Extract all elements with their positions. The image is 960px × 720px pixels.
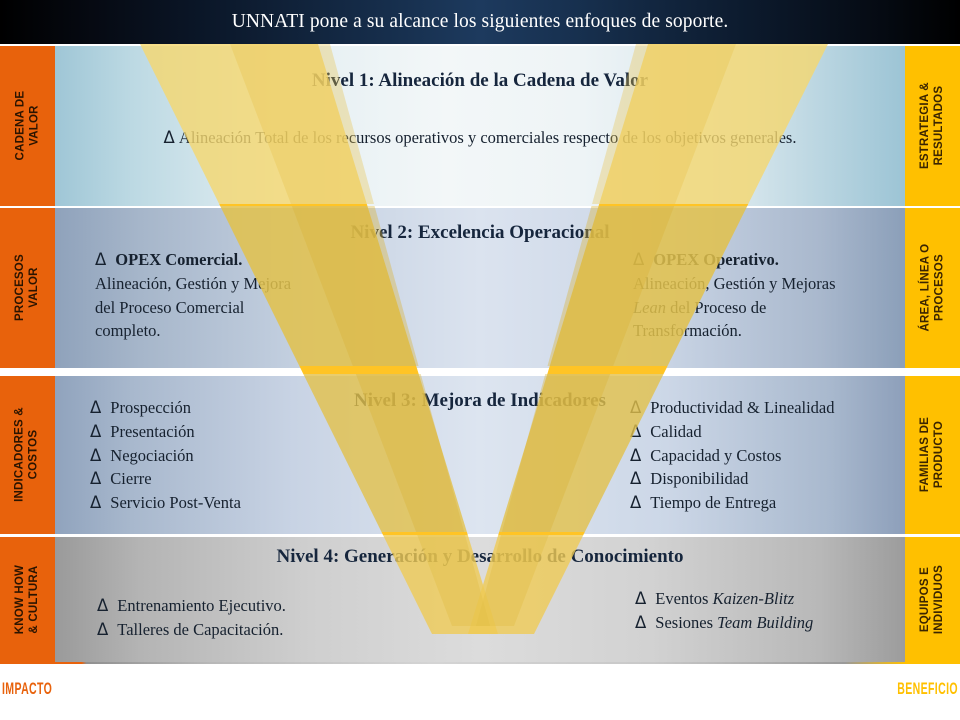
triangle-bullet-icon: Δ (97, 594, 108, 618)
list-item: Δ Servicio Post-Venta (90, 491, 241, 515)
level-1-paragraph-text: Alineación Total de los recursos operati… (179, 128, 797, 147)
sidebar-item-familias-de-producto[interactable]: FAMILIAS DEPRODUCTO (905, 376, 960, 534)
level-4-left-list: Δ Entrenamiento Ejecutivo. Δ Talleres de… (97, 594, 286, 642)
triangle-bullet-icon: Δ (630, 467, 641, 491)
left-tab-label-4: KNOW HOW& CULTURA (14, 565, 41, 634)
triangle-bullet-icon: Δ (90, 467, 101, 491)
level-2-left-line-0: Alineación, Gestión y Mejora (95, 272, 425, 296)
level-2-left-line-1: del Proceso Comercial (95, 296, 425, 320)
triangle-bullet-icon: Δ (630, 491, 641, 515)
level-4-right-item-1: Sesiones Team Building (655, 611, 813, 635)
level-3-right-item-2: Capacidad y Costos (650, 444, 781, 468)
list-item: Δ Prospección (90, 396, 241, 420)
level-3-left-item-4: Servicio Post-Venta (110, 491, 241, 515)
level-3-left-item-2: Negociación (110, 444, 193, 468)
level-1-body: Nivel 1: Alineación de la Cadena de Valo… (55, 46, 905, 206)
sidebar-item-cadena-de-valor[interactable]: CADENA DEVALOR (0, 46, 55, 206)
level-3-right-item-3: Disponibilidad (650, 467, 748, 491)
level-3-left-item-1: Presentación (110, 420, 194, 444)
right-tab-label-4: EQUIPOS EINDIVIDUOS (919, 565, 946, 634)
impacto-label: IMPACTO (2, 679, 52, 699)
triangle-bullet-icon: Δ (95, 248, 106, 272)
level-2-left-line-2: completo. (95, 319, 425, 343)
sidebar-item-indicadores-costos[interactable]: INDICADORES &COSTOS (0, 376, 55, 534)
triangle-bullet-icon: Δ (635, 611, 646, 635)
level-4-right-list: Δ Eventos Kaizen-Blitz Δ Sesiones Team B… (635, 587, 813, 635)
list-item: Δ Calidad (630, 420, 835, 444)
level-3-band: INDICADORES &COSTOS FAMILIAS DEPRODUCTO … (0, 376, 960, 534)
beneficio-label: BENEFICIO (897, 679, 958, 699)
level-3-left-item-0: Prospección (110, 396, 191, 420)
list-item: Δ Negociación (90, 444, 241, 468)
level-2-left-heading: Δ OPEX Comercial. (95, 248, 425, 272)
triangle-bullet-icon: Δ (90, 491, 101, 515)
left-tab-label-3: INDICADORES &COSTOS (14, 408, 41, 503)
list-item: Δ Entrenamiento Ejecutivo. (97, 594, 286, 618)
level-3-left-list: Δ Prospección Δ Presentación Δ Negociaci… (90, 396, 241, 515)
level-1-band: CADENA DEVALOR ESTRATEGIA &RESULTADOS Ni… (0, 46, 960, 206)
level-1-paragraph: Δ Alineación Total de los recursos opera… (113, 126, 847, 149)
level-2-band: PROCESOSVALOR ÁREA, LÍNEA OPROCESOS Nive… (0, 208, 960, 368)
level-2-right-line-2: Transformación. (633, 319, 905, 343)
level-2-left-column: Δ OPEX Comercial. Alineación, Gestión y … (95, 248, 425, 343)
level-2-left-heading-text: OPEX Comercial. (115, 248, 242, 272)
sidebar-item-know-how-cultura[interactable]: KNOW HOW& CULTURA (0, 537, 55, 662)
level-2-right-heading: Δ OPEX Operativo. (633, 248, 905, 272)
level-2-right-line-0: Alineación, Gestión y Mejoras (633, 272, 905, 296)
level-1-title: Nivel 1: Alineación de la Cadena de Valo… (55, 70, 905, 92)
triangle-bullet-icon: Δ (630, 396, 641, 420)
list-item: Δ Disponibilidad (630, 467, 835, 491)
level-4-title: Nivel 4: Generación y Desarrollo de Cono… (55, 546, 905, 568)
sidebar-item-area-linea-procesos[interactable]: ÁREA, LÍNEA OPROCESOS (905, 208, 960, 368)
level-4-band: KNOW HOW& CULTURA EQUIPOS EINDIVIDUOS Ni… (0, 537, 960, 662)
triangle-bullet-icon: Δ (97, 618, 108, 642)
level-3-right-list: Δ Productividad & Linealidad Δ Calidad Δ… (630, 396, 835, 515)
left-tab-label-2: PROCESOSVALOR (14, 255, 41, 322)
level-2-right-column: Δ OPEX Operativo. Alineación, Gestión y … (633, 248, 905, 343)
triangle-bullet-icon: Δ (630, 444, 641, 468)
triangle-bullet-icon: Δ (90, 444, 101, 468)
slide-root: UNNATI pone a su alcance los siguientes … (0, 0, 960, 720)
list-item: Δ Tiempo de Entrega (630, 491, 835, 515)
level-3-right-item-0: Productividad & Linealidad (650, 396, 834, 420)
triangle-bullet-icon: Δ (90, 420, 101, 444)
page-title: UNNATI pone a su alcance los siguientes … (232, 11, 729, 33)
level-4-right-item-0: Eventos Kaizen-Blitz (655, 587, 794, 611)
level-4-body: Nivel 4: Generación y Desarrollo de Cono… (55, 537, 905, 662)
sidebar-item-equipos-individuos[interactable]: EQUIPOS EINDIVIDUOS (905, 537, 960, 662)
sidebar-item-estrategia-resultados[interactable]: ESTRATEGIA &RESULTADOS (905, 46, 960, 206)
level-4-left-item-1: Talleres de Capacitación. (117, 618, 283, 642)
level-2-body: Nivel 2: Excelencia Operacional Δ OPEX C… (55, 208, 905, 368)
list-item: Δ Cierre (90, 467, 241, 491)
list-item: Δ Talleres de Capacitación. (97, 618, 286, 642)
level-4-left-item-0: Entrenamiento Ejecutivo. (117, 594, 286, 618)
list-item: Δ Presentación (90, 420, 241, 444)
right-tab-label-1: ESTRATEGIA &RESULTADOS (919, 83, 946, 170)
level-2-title: Nivel 2: Excelencia Operacional (55, 222, 905, 244)
right-tab-label-3: FAMILIAS DEPRODUCTO (919, 417, 946, 492)
triangle-bullet-icon: Δ (90, 396, 101, 420)
triangle-bullet-icon: Δ (630, 420, 641, 444)
list-item: Δ Capacidad y Costos (630, 444, 835, 468)
list-item: Δ Sesiones Team Building (635, 611, 813, 635)
list-item: Δ Eventos Kaizen-Blitz (635, 587, 813, 611)
level-2-right-heading-text: OPEX Operativo. (653, 248, 779, 272)
header-bar: UNNATI pone a su alcance los siguientes … (0, 0, 960, 44)
triangle-bullet-icon: Δ (633, 248, 644, 272)
triangle-bullet-icon: Δ (164, 128, 175, 147)
left-tab-label-1: CADENA DEVALOR (14, 91, 41, 161)
level-3-body: Nivel 3: Mejora de Indicadores Δ Prospec… (55, 376, 905, 534)
triangle-bullet-icon: Δ (635, 587, 646, 611)
footer-bar: IMPACTO BENEFICIO (0, 664, 960, 720)
sidebar-item-procesos-valor[interactable]: PROCESOSVALOR (0, 208, 55, 368)
list-item: Δ Productividad & Linealidad (630, 396, 835, 420)
level-3-left-item-3: Cierre (110, 467, 151, 491)
level-3-right-item-1: Calidad (650, 420, 701, 444)
right-tab-label-2: ÁREA, LÍNEA OPROCESOS (919, 244, 946, 332)
level-2-right-line-1: Lean del Proceso de (633, 296, 905, 320)
level-3-right-item-4: Tiempo de Entrega (650, 491, 776, 515)
